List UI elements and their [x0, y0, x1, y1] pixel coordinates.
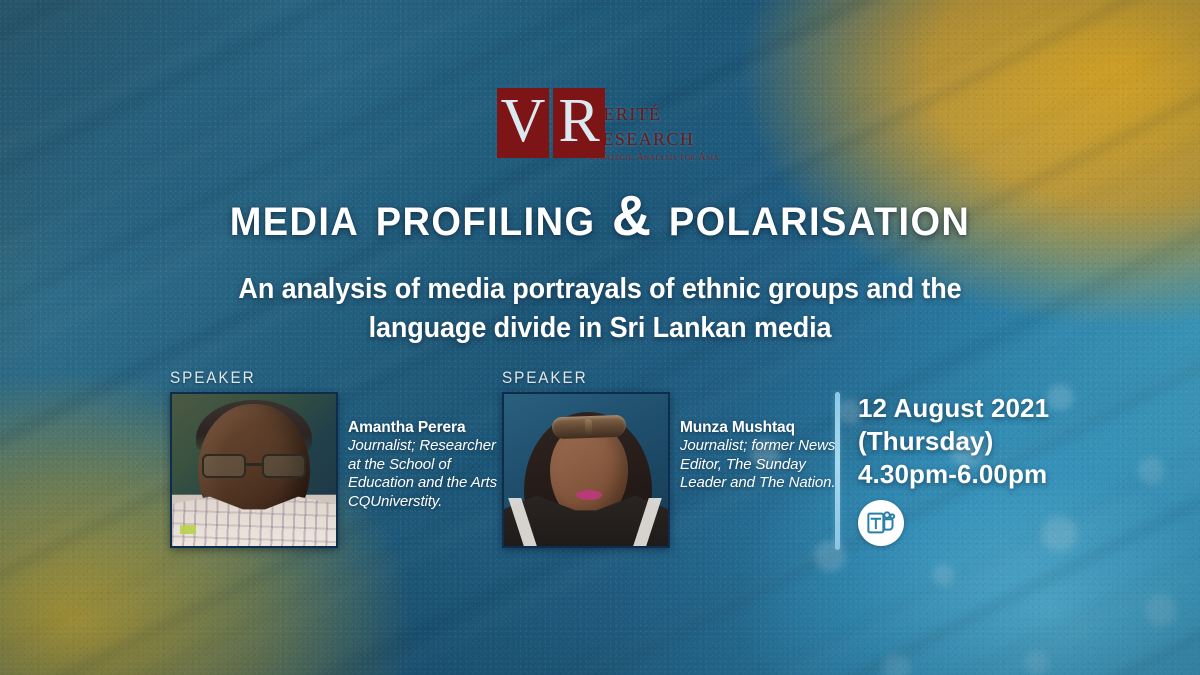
portrait-lens-right	[262, 454, 306, 478]
teams-glyph	[866, 508, 896, 538]
verite-research-logo: V R VERITÉ RESEARCH Strategic Analysis f…	[497, 88, 719, 163]
speaker-details: Munza Mushtaq Journalist; former News Ed…	[680, 392, 840, 493]
speaker-body: Munza Mushtaq Journalist; former News Ed…	[502, 392, 840, 548]
speaker-bio: Journalist; Researcher at the School of …	[348, 437, 508, 511]
portrait-glasses	[202, 454, 306, 478]
speaker-photo-amantha-perera	[172, 394, 336, 546]
portrait-lens-left	[202, 454, 246, 478]
logo-tagline: Strategic Analysis for Asia	[589, 152, 719, 163]
portrait-bridge	[246, 463, 262, 466]
event-poster: V R VERITÉ RESEARCH Strategic Analysis f…	[0, 0, 1200, 675]
microsoft-teams-icon	[858, 500, 904, 546]
logo-line-verite: VERITÉ	[589, 100, 719, 125]
page-title: Media Profiling & Polarisation	[30, 186, 1170, 246]
page-subtitle: An analysis of media portrayals of ethni…	[191, 270, 1009, 348]
event-time: 4.30pm-6.00pm	[858, 458, 1049, 491]
event-date: 12 August 2021	[858, 392, 1049, 425]
subtitle-line-1: An analysis of media portrayals of ethni…	[191, 270, 1009, 309]
speaker-name: Munza Mushtaq	[680, 418, 840, 437]
speaker-card-munza-mushtaq: SPEAKER Munza Mushtaq	[502, 368, 840, 548]
speaker-bio: Journalist; former News Editor, The Sund…	[680, 437, 840, 493]
logo-mark-v: V	[497, 88, 549, 158]
portrait-sunglasses	[552, 415, 627, 440]
speaker-label: SPEAKER	[170, 368, 474, 388]
logo-monogram: V R	[497, 88, 605, 158]
logo-mark-r: R	[553, 88, 605, 158]
speaker-body: Amantha Perera Journalist; Researcher at…	[170, 392, 508, 548]
poster-content: V R VERITÉ RESEARCH Strategic Analysis f…	[0, 0, 1200, 675]
event-datetime: 12 August 2021 (Thursday) 4.30pm-6.00pm	[858, 392, 1049, 550]
logo-mark-v-letter: V	[501, 90, 546, 152]
accent-rule	[835, 392, 840, 550]
speaker-photo-munza-mushtaq	[504, 394, 668, 546]
portrait-lips	[576, 490, 602, 500]
logo-mark-r-letter: R	[558, 90, 599, 152]
speaker-card-amantha-perera: SPEAKER	[170, 368, 508, 548]
subtitle-line-2: language divide in Sri Lankan media	[191, 309, 1009, 348]
speaker-photo-frame	[170, 392, 338, 548]
event-day: (Thursday)	[858, 425, 1049, 458]
speaker-label: SPEAKER	[502, 368, 806, 388]
logo-wordmark: VERITÉ RESEARCH Strategic Analysis for A…	[589, 88, 719, 163]
speaker-name: Amantha Perera	[348, 418, 508, 437]
speaker-details: Amantha Perera Journalist; Researcher at…	[348, 392, 508, 511]
event-datetime-block: 12 August 2021 (Thursday) 4.30pm-6.00pm	[835, 392, 1049, 550]
portrait-badge	[180, 525, 196, 534]
logo-line-research: RESEARCH	[589, 125, 719, 150]
speaker-photo-frame	[502, 392, 670, 548]
